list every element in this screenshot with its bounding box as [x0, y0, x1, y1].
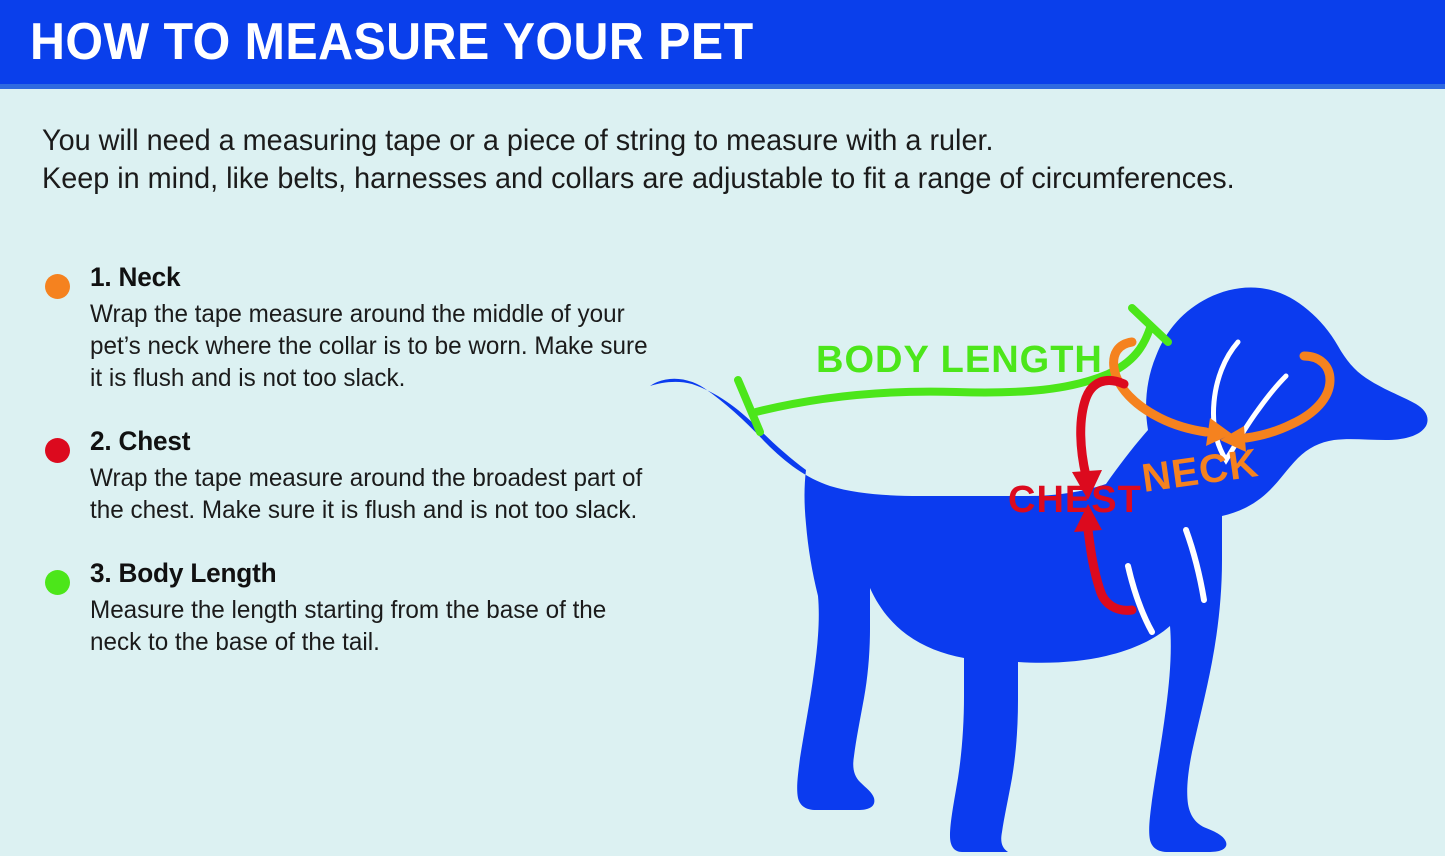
chest-label: CHEST: [1008, 479, 1142, 521]
step-content-chest: 2. Chest Wrap the tape measure around th…: [90, 426, 652, 526]
step-description-neck: Wrap the tape measure around the middle …: [90, 298, 657, 394]
intro-text: You will need a measuring tape or a piec…: [42, 122, 1332, 198]
bullet-icon-neck: [45, 274, 70, 299]
header-underline-divider: [0, 84, 1445, 89]
step-description-chest: Wrap the tape measure around the broades…: [90, 462, 657, 526]
step-description-body-length: Measure the length starting from the bas…: [90, 594, 657, 658]
chest-arrow-upper-icon: [1081, 380, 1124, 476]
body-length-measurement: BODY LENGTH: [738, 308, 1168, 432]
measurement-steps-list: 1. Neck Wrap the tape measure around the…: [42, 262, 652, 690]
intro-line-2: Keep in mind, like belts, harnesses and …: [42, 160, 1280, 198]
list-item: 2. Chest Wrap the tape measure around th…: [42, 426, 652, 526]
list-item: 1. Neck Wrap the tape measure around the…: [42, 262, 652, 394]
body-length-label: BODY LENGTH: [816, 339, 1103, 381]
step-title-chest: 2. Chest: [90, 426, 635, 457]
infographic-page: HOW TO MEASURE YOUR PET You will need a …: [0, 0, 1445, 856]
list-item: 3. Body Length Measure the length starti…: [42, 558, 652, 658]
page-title: HOW TO MEASURE YOUR PET: [30, 14, 754, 70]
step-title-body-length: 3. Body Length: [90, 558, 635, 589]
intro-line-1: You will need a measuring tape or a piec…: [42, 122, 1280, 160]
dog-diagram: BODY LENGTH NECK CHEST: [620, 200, 1445, 856]
bullet-icon-chest: [45, 438, 70, 463]
step-content-body-length: 3. Body Length Measure the length starti…: [90, 558, 652, 658]
step-content-neck: 1. Neck Wrap the tape measure around the…: [90, 262, 652, 394]
step-title-neck: 1. Neck: [90, 262, 635, 293]
bullet-icon-body-length: [45, 570, 70, 595]
